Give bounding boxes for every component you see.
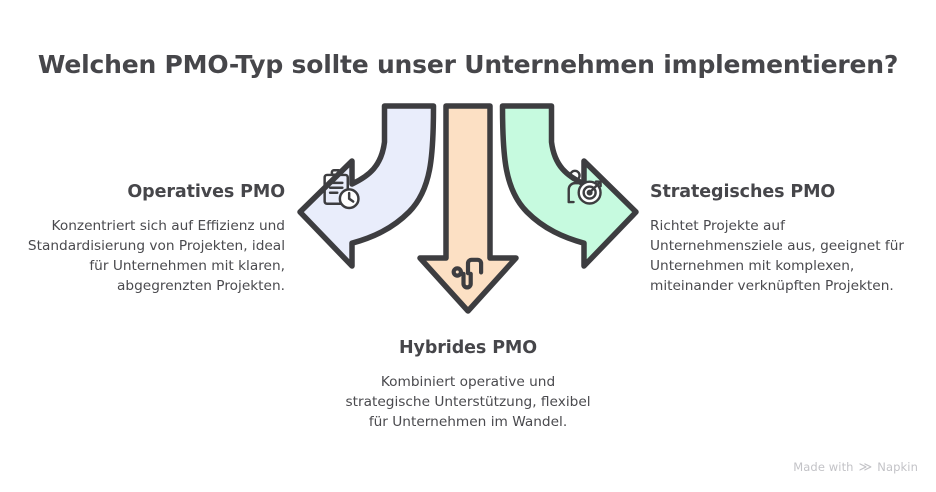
arrow-operatives[interactable] (297, 104, 434, 266)
napkin-logo-icon: ≫ (859, 461, 873, 474)
arrow-operatives-path (300, 106, 434, 266)
page-title: Welchen PMO-Typ sollte unser Unternehmen… (0, 50, 936, 79)
branch-body-operatives: Konzentriert sich auf Effizienz und Stan… (10, 216, 285, 296)
branch-body-hybrides: Kombiniert operative und strategische Un… (340, 372, 596, 432)
branch-body-strategisches: Richtet Projekte auf Unternehmensziele a… (650, 216, 912, 296)
watermark-made-with-label: Made with (793, 460, 853, 474)
watermark-brand-label: Napkin (877, 460, 918, 474)
branch-title-hybrides: Hybrides PMO (328, 338, 608, 358)
branch-title-strategisches: Strategisches PMO (650, 182, 930, 202)
napkin-watermark[interactable]: Made with ≫ Napkin (793, 460, 918, 474)
arrow-strategisches[interactable] (503, 106, 637, 266)
branch-title-operatives: Operatives PMO (20, 182, 285, 202)
